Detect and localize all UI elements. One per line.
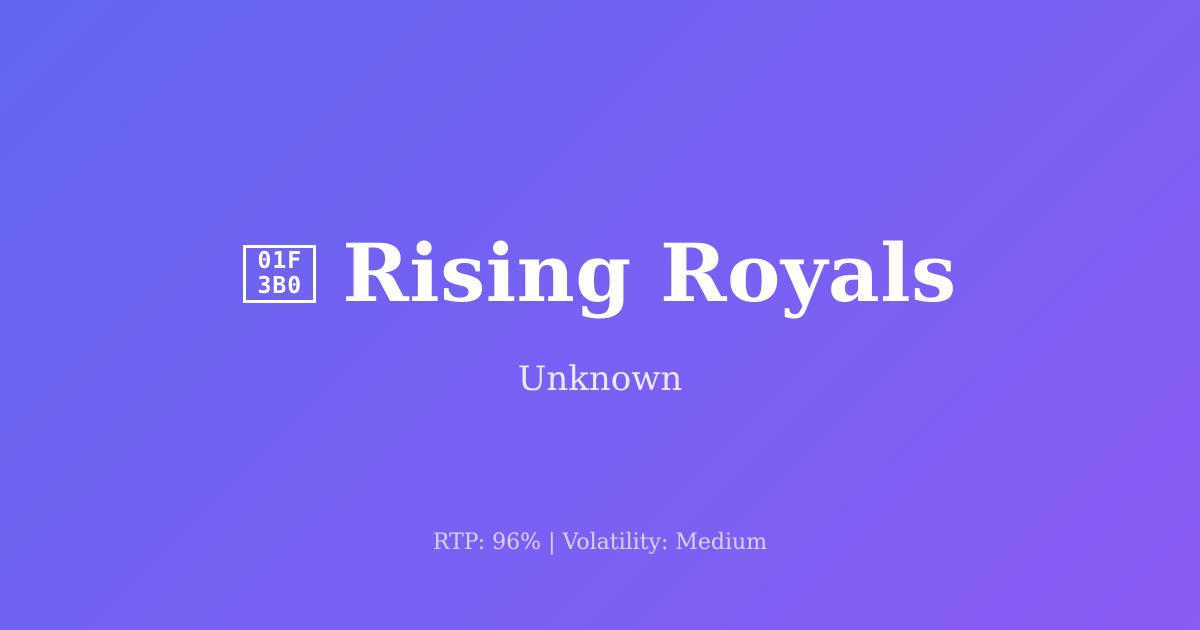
slot-machine-emoji-codepoint-bottom: 3B0 [258, 274, 303, 299]
page-title: Rising Royals [342, 230, 956, 316]
slot-machine-emoji-icon: 01F 3B0 [243, 245, 316, 303]
game-stats-line: RTP: 96% | Volatility: Medium [0, 530, 1200, 556]
game-preview-card: 01F 3B0 Rising Royals Unknown RTP: 96% |… [0, 0, 1200, 630]
slot-machine-emoji-codepoint-top: 01F [258, 249, 303, 274]
provider-label: Unknown [518, 359, 683, 400]
title-row: 01F 3B0 Rising Royals [243, 230, 956, 316]
